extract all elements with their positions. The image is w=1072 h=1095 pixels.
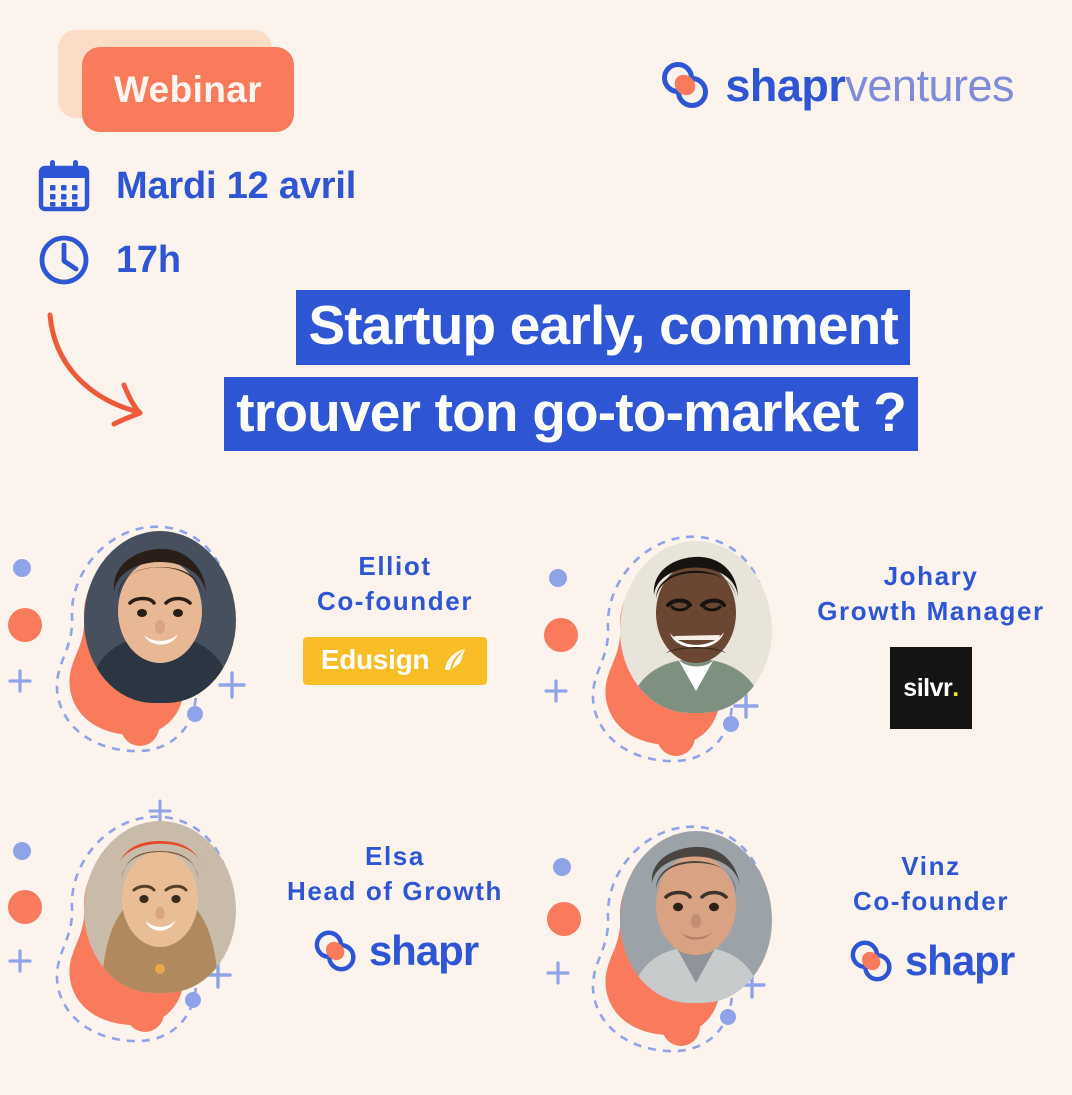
brand-name-secondary: ventures (845, 60, 1014, 111)
decor-dot-orange-bottom (657, 718, 695, 756)
decor-plus-left (10, 951, 30, 971)
decor-plus-left (10, 671, 30, 691)
shapr-logo: shapr (848, 937, 1014, 985)
speaker-company: Edusign (272, 637, 518, 685)
headline-line-2: trouver ton go-to-market ? (0, 377, 1000, 452)
speaker-card: Johary Growth Manager silvr. (536, 515, 1072, 805)
speaker-company: shapr (808, 937, 1054, 985)
brand-logo-text: shaprventures (725, 63, 1014, 108)
silvr-logo-text: silvr (903, 676, 952, 701)
speaker-role: Head of Growth (272, 874, 518, 909)
event-date-label: Mardi 12 avril (116, 165, 356, 208)
decor-dot-blue-bottom (720, 1009, 736, 1025)
decor-dot-blue-top (13, 842, 31, 860)
speaker-info: Vinz Co-founder shapr (808, 805, 1072, 985)
decor-plus-left (548, 963, 568, 983)
shapr-logo-text: shapr (369, 930, 478, 972)
speaker-info: Johary Growth Manager silvr. (808, 515, 1072, 729)
webinar-badge-front: Webinar (82, 47, 294, 132)
shapr-logo-mark (312, 927, 360, 975)
event-date-row: Mardi 12 avril (36, 158, 356, 214)
brand-name-primary: shapr (725, 60, 845, 111)
speaker-info: Elsa Head of Growth shapr (272, 795, 536, 975)
avatar-elliot (84, 531, 236, 703)
speaker-name: Johary (808, 559, 1054, 594)
avatar-johary (620, 541, 772, 713)
speaker-card: Vinz Co-founder shapr (536, 805, 1072, 1095)
calendar-icon (36, 158, 92, 214)
shapr-logo-mark (659, 58, 713, 112)
speaker-info: Elliot Co-founder Edusign (272, 505, 536, 685)
speaker-name: Elsa (272, 839, 518, 874)
webinar-poster: Webinar shaprventures (0, 0, 1072, 1074)
speaker-role: Co-founder (808, 884, 1054, 919)
decor-plus-left (546, 681, 566, 701)
speaker-name: Elliot (272, 549, 518, 584)
brand-logo: shaprventures (659, 58, 1014, 112)
decor-dot-blue-bottom (723, 716, 739, 732)
speaker-role: Growth Manager (808, 594, 1054, 629)
avatar (536, 515, 808, 787)
decor-dot-blue-top (549, 569, 567, 587)
shapr-logo-text: shapr (905, 940, 1014, 982)
headline-text-1: Startup early, comment (296, 290, 910, 365)
clock-icon (36, 232, 92, 288)
decor-dot-blue-bottom (187, 706, 203, 722)
silvr-logo: silvr. (890, 647, 972, 729)
silvr-logo-dot: . (952, 676, 958, 701)
event-time-row: 17h (36, 232, 181, 288)
decor-dot-blue-top (553, 858, 571, 876)
avatar (0, 505, 272, 777)
speaker-grid: Elliot Co-founder Edusign (0, 505, 1072, 1075)
speaker-company: shapr (272, 927, 518, 975)
avatar-vinz (620, 831, 772, 1003)
headline-text-2: trouver ton go-to-market ? (224, 377, 918, 452)
decor-dot-orange-bottom (126, 994, 164, 1032)
decor-dot-orange-left (544, 618, 578, 652)
webinar-badge-label: Webinar (114, 69, 262, 111)
feather-icon (441, 646, 469, 674)
decor-plus-right (220, 673, 244, 697)
webinar-badge: Webinar (58, 30, 298, 138)
avatar-elsa (84, 821, 236, 993)
speaker-name: Vinz (808, 849, 1054, 884)
decor-dot-orange-bottom (121, 708, 159, 746)
shapr-logo: shapr (312, 927, 478, 975)
shapr-logo-mark (848, 937, 896, 985)
avatar (0, 795, 272, 1067)
speaker-company: silvr. (808, 647, 1054, 729)
decor-dot-orange-left (8, 608, 42, 642)
speaker-role: Co-founder (272, 584, 518, 619)
avatar (536, 805, 808, 1077)
edusign-logo: Edusign (303, 637, 487, 685)
decor-dot-orange-left (8, 890, 42, 924)
edusign-logo-text: Edusign (321, 644, 429, 676)
headline-line-1: Startup early, comment (0, 290, 1000, 365)
speaker-card: Elliot Co-founder Edusign (0, 505, 536, 795)
speaker-card: Elsa Head of Growth shapr (0, 795, 536, 1085)
decor-dot-orange-bottom (662, 1008, 700, 1046)
decor-dot-blue-top (13, 559, 31, 577)
event-time-label: 17h (116, 239, 181, 282)
decor-dot-orange-left (547, 902, 581, 936)
decor-dot-blue-bottom (185, 992, 201, 1008)
page-title: Startup early, comment trouver ton go-to… (0, 290, 1000, 463)
